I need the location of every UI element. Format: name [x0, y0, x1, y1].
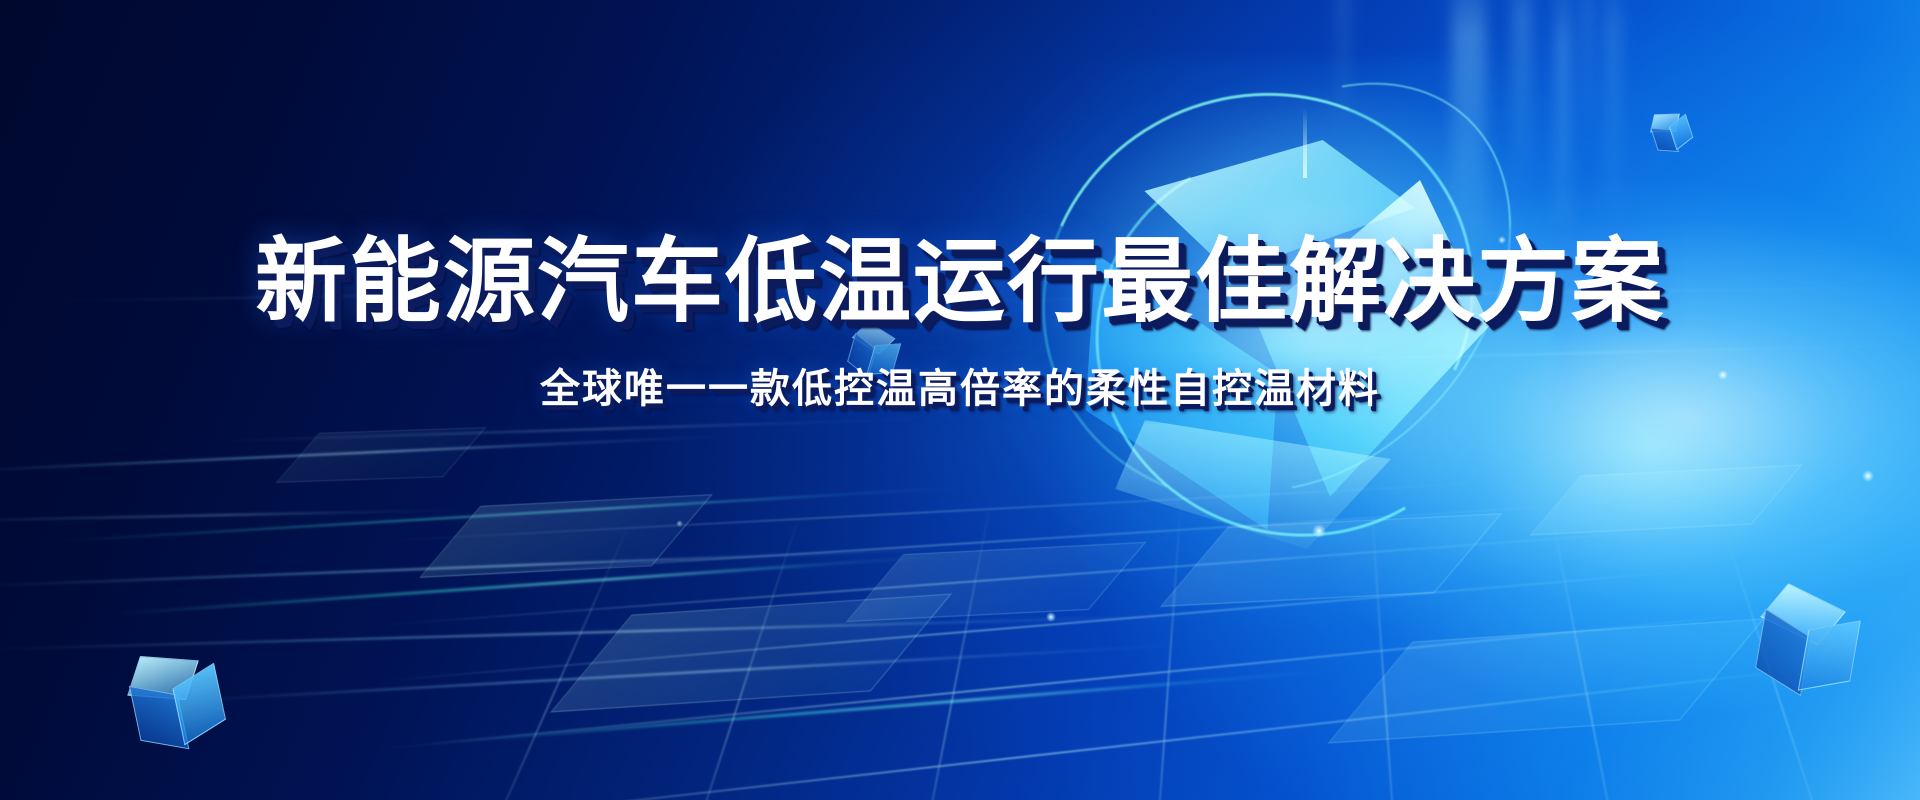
floating-cube-icon — [121, 646, 240, 765]
banner-subheadline: 全球唯一一款低控温高倍率的柔性自控温材料 — [0, 356, 1920, 414]
sparkle-dot — [1862, 470, 1874, 482]
cube-antenna — [1303, 108, 1307, 178]
cube-face-right — [172, 663, 226, 746]
cube-face-left — [129, 686, 190, 749]
grid-line-vertical — [1550, 510, 1630, 800]
floating-cube-icon — [1647, 107, 1700, 160]
cube-face-right — [1669, 114, 1693, 151]
banner-headline: 新能源汽车低温运行最佳解决方案 — [0, 236, 1920, 328]
grid-line-horizontal — [380, 667, 1811, 800]
grid-line-horizontal — [380, 613, 1754, 750]
cube-face-top — [127, 656, 199, 700]
banner-hero: 新能源汽车低温运行最佳解决方案 全球唯一一款低控温高倍率的柔性自控温材料 — [0, 0, 1920, 800]
glass-panel — [276, 427, 486, 483]
cube-face-left — [1650, 128, 1679, 152]
light-beam — [1604, 0, 1622, 230]
cube-face-top — [1650, 114, 1680, 133]
streak-line — [0, 436, 719, 472]
streak-line — [220, 418, 920, 442]
grid-line-vertical — [1720, 520, 1842, 800]
banner-text-block: 新能源汽车低温运行最佳解决方案 全球唯一一款低控温高倍率的柔性自控温材料 — [0, 236, 1920, 414]
grid-line-vertical — [467, 520, 632, 800]
light-beam — [1582, 0, 1592, 160]
